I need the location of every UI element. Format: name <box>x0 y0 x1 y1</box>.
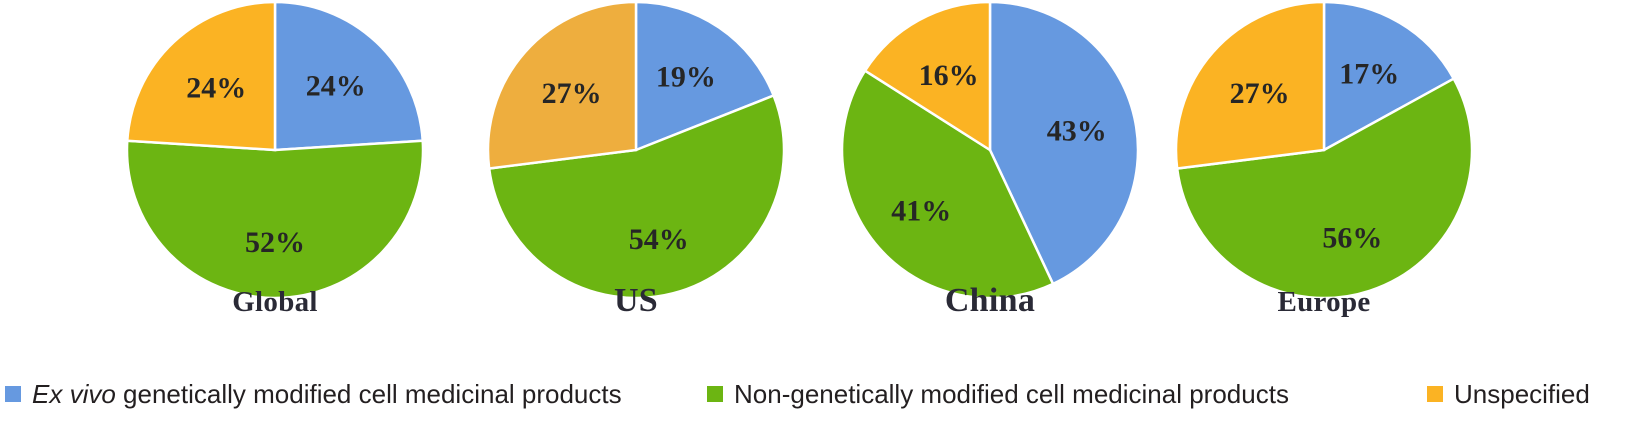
pie-europe: 17%56%27% <box>1174 0 1474 300</box>
legend-label-ex-vivo: Ex vivo genetically modified cell medici… <box>32 379 622 409</box>
pie-slice-value-label: 24% <box>306 69 366 102</box>
legend-swatch-blue <box>5 386 21 402</box>
legend-swatch-green <box>707 386 723 402</box>
pie-slice-value-label: 16% <box>919 59 979 92</box>
pie-slice-value-label: 17% <box>1339 58 1399 91</box>
legend-item-unspecified: Unspecified <box>1427 378 1590 410</box>
pie-china: 43%41%16% <box>840 0 1140 300</box>
pie-slice-value-label: 27% <box>1230 77 1290 110</box>
pie-europe-svg: 17%56%27% <box>1174 0 1474 300</box>
pie-chart-figure: 24%52%24% Global 19%54%27% US 43%41%16% … <box>0 0 1646 428</box>
pie-slice-value-label: 56% <box>1322 221 1382 254</box>
legend-label-non-genetically-modified: Non-genetically modified cell medicinal … <box>734 379 1289 409</box>
pie-china-svg: 43%41%16% <box>840 0 1140 300</box>
pie-caption-global: Global <box>125 286 425 319</box>
pie-us-svg: 19%54%27% <box>486 0 786 300</box>
pie-panel-us: 19%54%27% US <box>486 0 786 355</box>
pie-slice-value-label: 52% <box>245 226 305 259</box>
pie-slice-value-label: 43% <box>1047 115 1107 148</box>
legend-swatch-orange <box>1427 386 1443 402</box>
pie-caption-china: China <box>840 282 1140 320</box>
pie-slice-value-label: 27% <box>542 77 602 110</box>
legend-item-non-genetically-modified: Non-genetically modified cell medicinal … <box>707 378 1289 410</box>
pie-slice-value-label: 41% <box>891 195 951 228</box>
pie-slice <box>127 141 423 298</box>
pie-caption-us: US <box>486 282 786 320</box>
pie-panel-europe: 17%56%27% Europe <box>1174 0 1474 355</box>
pie-caption-europe: Europe <box>1174 286 1474 319</box>
pie-global-svg: 24%52%24% <box>125 0 425 300</box>
pie-slice-value-label: 24% <box>186 71 246 104</box>
legend-label-unspecified: Unspecified <box>1454 379 1590 409</box>
chart-legend: Ex vivo genetically modified cell medici… <box>0 378 1646 418</box>
pie-slice-value-label: 19% <box>656 61 716 94</box>
pie-panel-china: 43%41%16% China <box>840 0 1140 355</box>
pie-us: 19%54%27% <box>486 0 786 300</box>
pie-global: 24%52%24% <box>125 0 425 300</box>
pie-panel-global: 24%52%24% Global <box>125 0 425 355</box>
pie-slice-value-label: 54% <box>629 223 689 256</box>
pie-china-slices <box>842 2 1138 298</box>
legend-item-ex-vivo: Ex vivo genetically modified cell medici… <box>5 378 622 410</box>
